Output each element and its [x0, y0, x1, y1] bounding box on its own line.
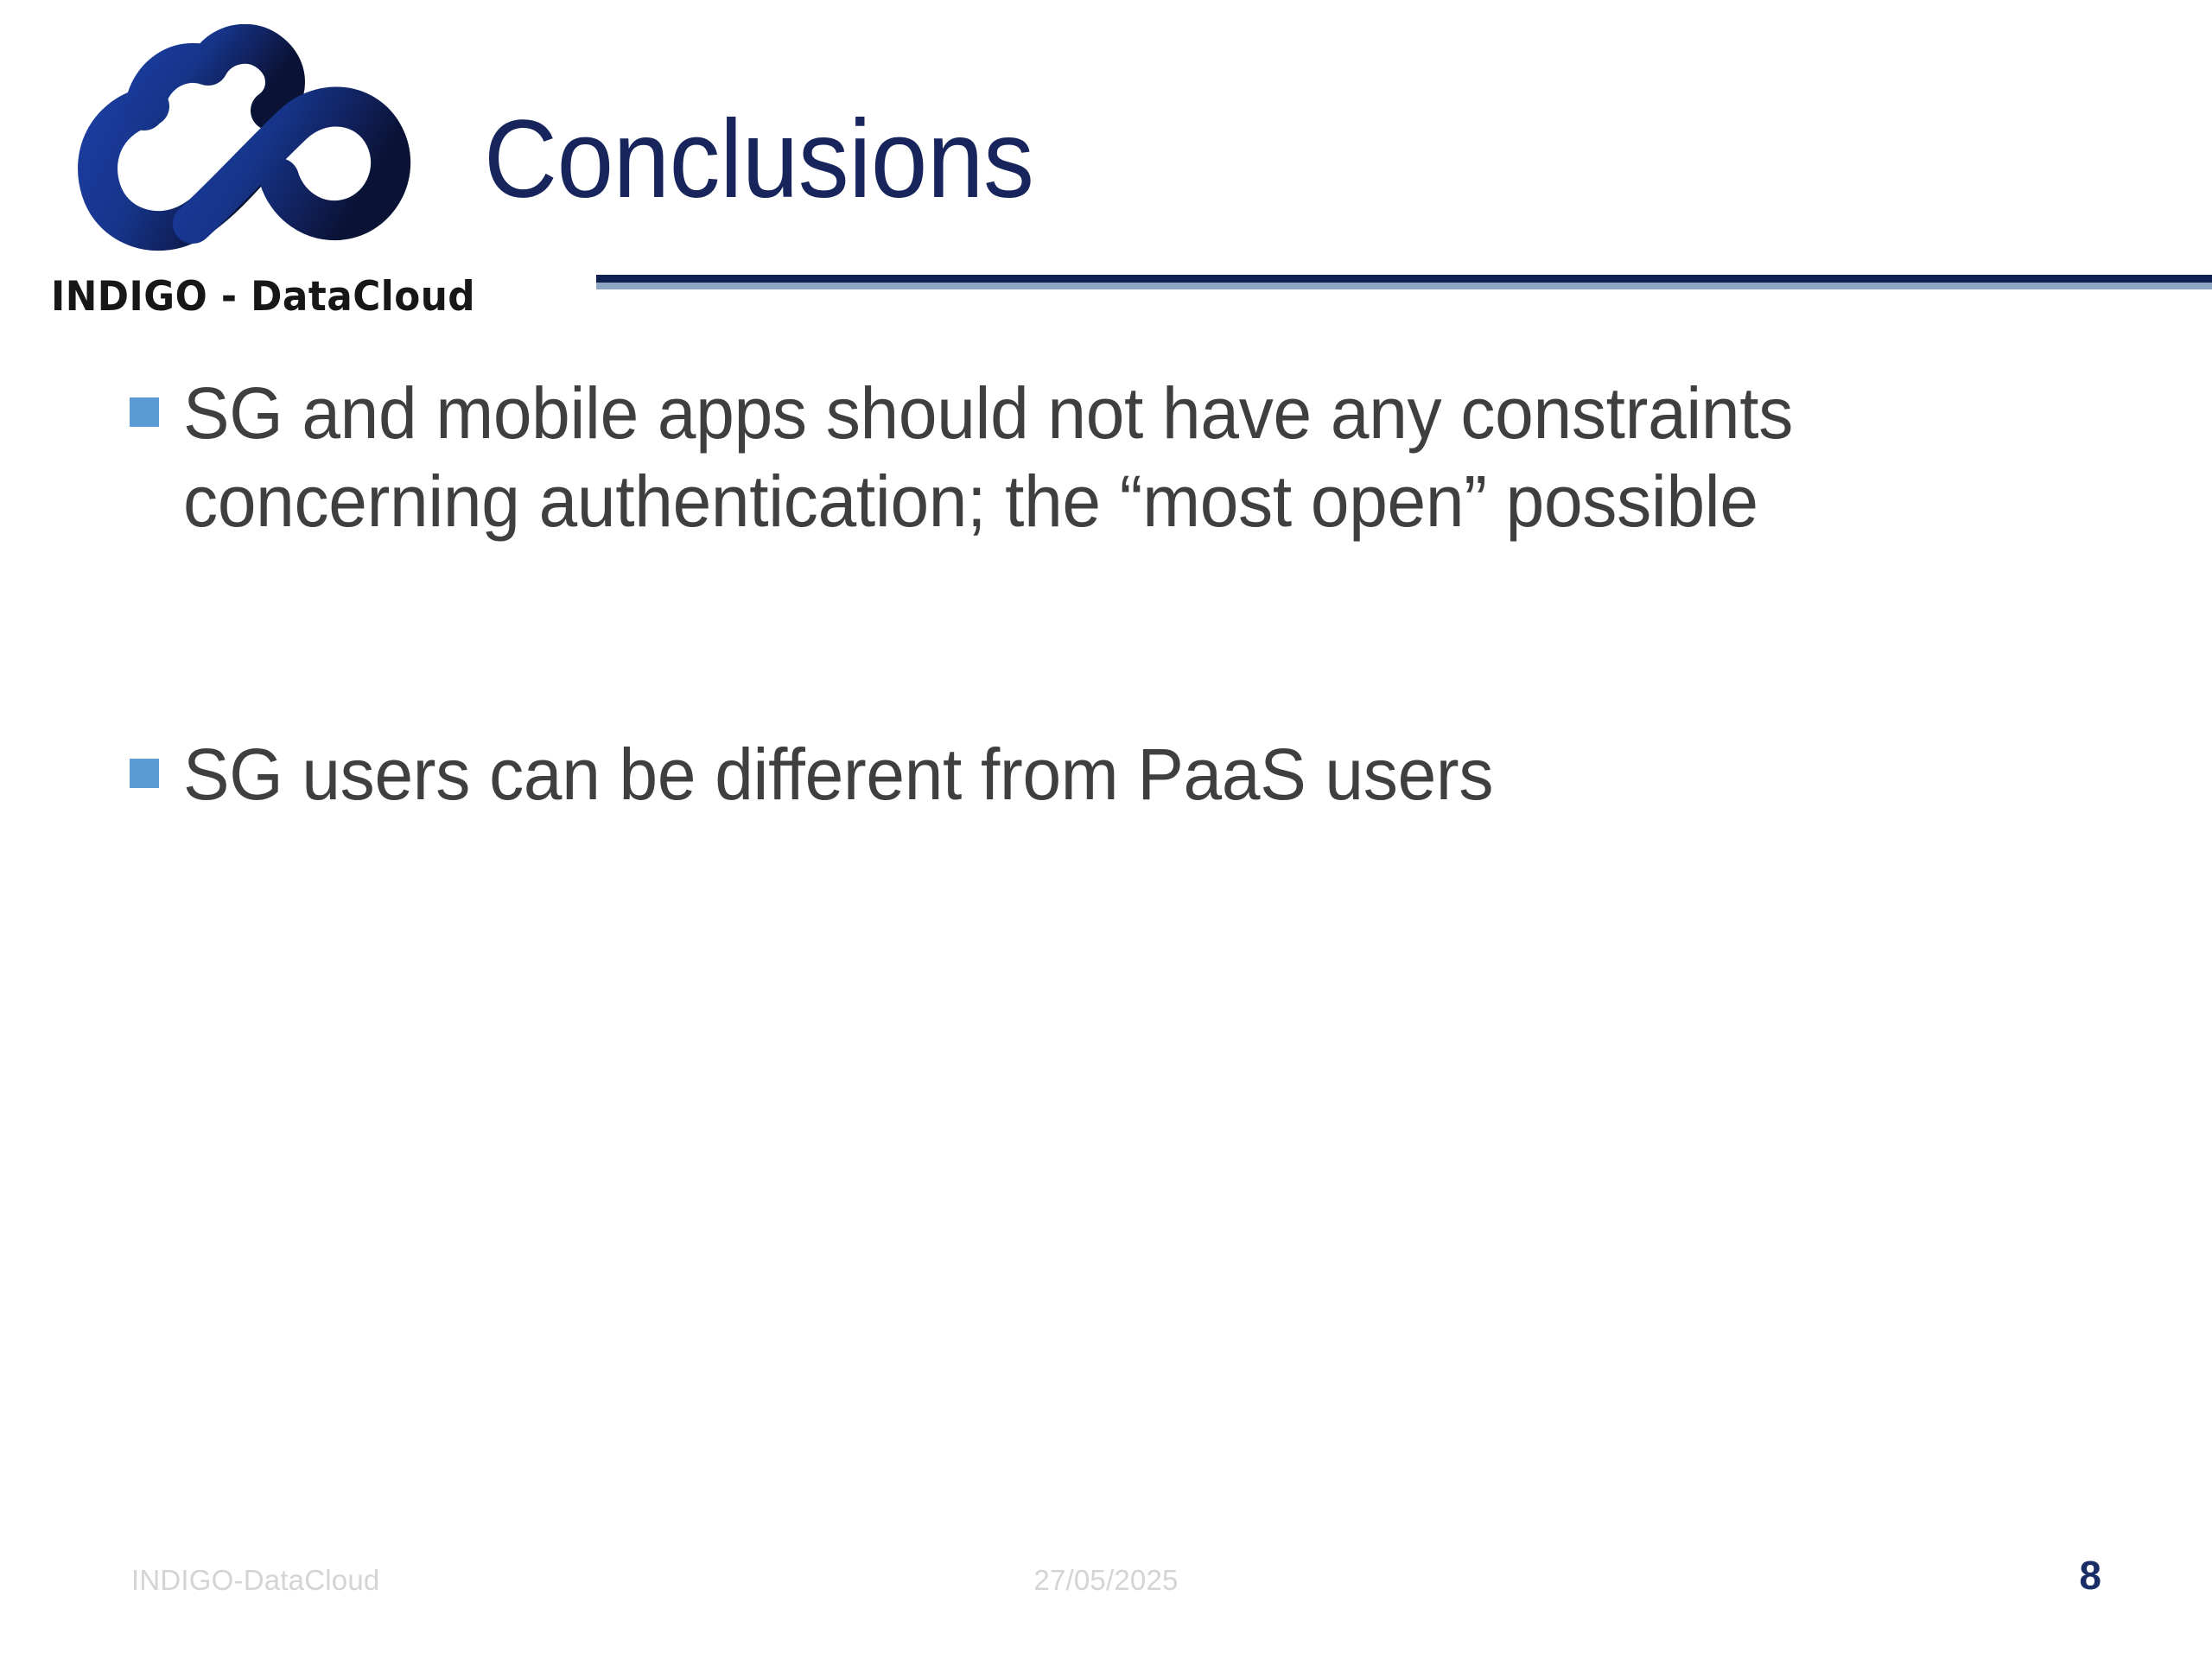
- title-divider: [596, 275, 2212, 290]
- square-bullet-icon: [130, 397, 159, 427]
- indigo-datacloud-logo: INDIGO - DataCloud: [48, 24, 428, 318]
- divider-line-light: [596, 283, 2212, 289]
- divider-line-dark: [596, 275, 2212, 283]
- bullet-text: SG users can be different from PaaS user…: [183, 731, 1982, 819]
- list-item: SG and mobile apps should not have any c…: [130, 370, 2117, 545]
- page-title: Conclusions: [484, 102, 1033, 218]
- presentation-slide: INDIGO - DataCloud Conclusions SG and mo…: [0, 0, 2212, 1659]
- list-item: SG users can be different from PaaS user…: [130, 731, 2117, 819]
- slide-page-number: 8: [2079, 1552, 2101, 1599]
- logo-wordmark: INDIGO - DataCloud: [51, 273, 397, 321]
- cloud-infinity-icon: [48, 24, 419, 266]
- square-bullet-icon: [130, 759, 159, 788]
- bullet-text: SG and mobile apps should not have any c…: [183, 370, 1982, 545]
- slide-body: SG and mobile apps should not have any c…: [130, 370, 2117, 819]
- footer-date: 27/05/2025: [0, 1564, 2212, 1597]
